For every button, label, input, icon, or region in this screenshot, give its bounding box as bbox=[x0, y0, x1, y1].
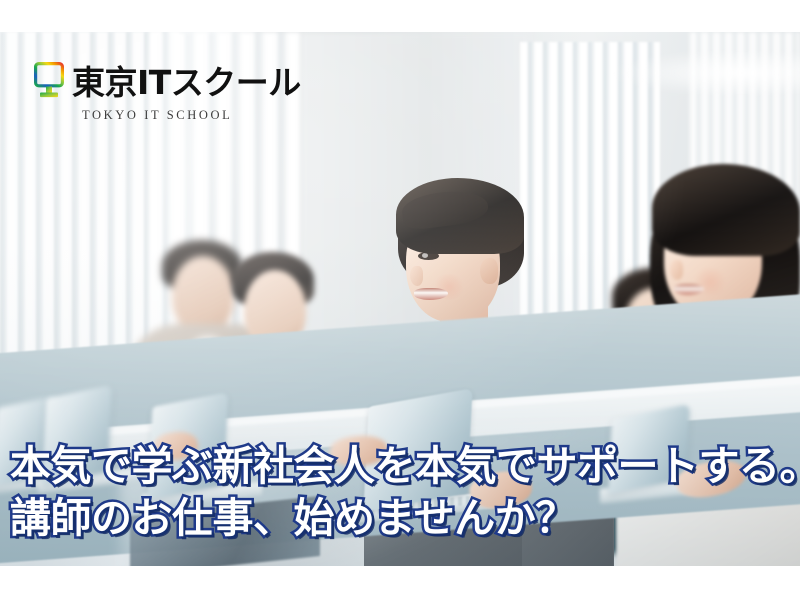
headline-line-2: 講師のお仕事、始めませんか？ bbox=[10, 492, 800, 544]
rainbow-monitor-icon bbox=[34, 62, 64, 102]
brand-wordmark: 東京ITスクール bbox=[72, 66, 301, 99]
brand-logo-row: 東京ITスクール bbox=[34, 62, 301, 102]
headline-line-1: 本気で学ぶ新社会人を本気でサポートする。 bbox=[10, 440, 800, 492]
eye-highlight bbox=[422, 253, 428, 258]
nose bbox=[410, 266, 423, 286]
nose bbox=[670, 260, 683, 280]
ear bbox=[480, 258, 498, 284]
brand-subtitle: TOKYO IT SCHOOL bbox=[82, 108, 232, 123]
brand-logo: 東京ITスクール TOKYO IT SCHOOL bbox=[34, 62, 301, 123]
head bbox=[172, 256, 234, 334]
hair bbox=[652, 164, 800, 256]
headline: 本気で学ぶ新社会人を本気でサポートする。 講師のお仕事、始めませんか？ bbox=[10, 440, 800, 544]
ceiling-light-glow bbox=[610, 50, 800, 96]
banner: 東京ITスクール TOKYO IT SCHOOL 本気で学ぶ新社会人を本気でサポ… bbox=[0, 0, 800, 600]
